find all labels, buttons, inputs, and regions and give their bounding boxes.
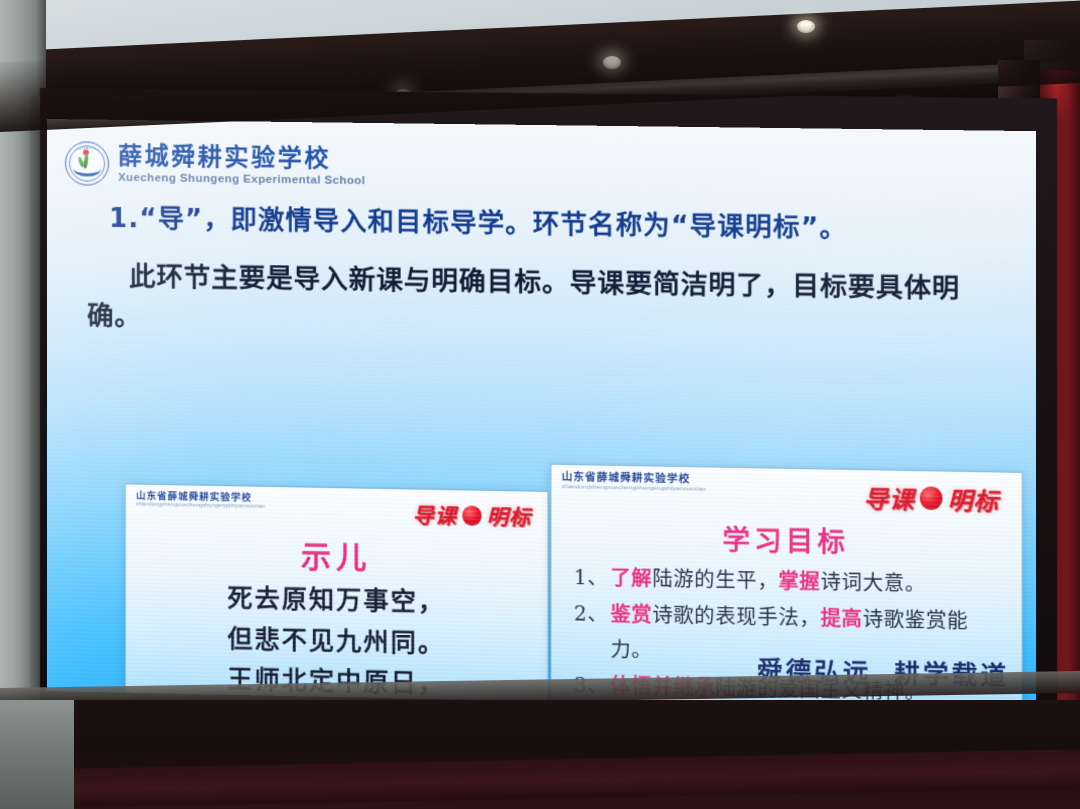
brand-lockup-daoke-mingbiao: 导课 明标	[412, 500, 531, 532]
objective-highlight: 提高	[820, 606, 862, 631]
brand-right-word: 明标	[948, 481, 999, 517]
brand-red-dot-icon	[920, 487, 943, 510]
poem-title: 示儿	[126, 528, 547, 580]
slide-paragraph: 此环节主要是导入新课与明确目标。导课要简洁明了，目标要具体明确。	[87, 257, 1005, 351]
objective-number: 1、	[574, 560, 608, 597]
brand-lockup-daoke-mingbiao: 导课 明标	[863, 479, 999, 517]
objective-highlight: 了解	[610, 566, 652, 591]
brand-red-dot-icon	[462, 506, 482, 526]
school-name-cn: 薛城舜耕实验学校	[118, 144, 365, 172]
school-name-en: Xuecheng Shungeng Experimental School	[118, 171, 365, 186]
objectives-title: 学习目标	[552, 515, 1022, 563]
embedded-slide-poem[interactable]: 山东省薛城舜耕实验学校 shandongshengxuechengshungen…	[125, 483, 548, 711]
led-presentation-screen[interactable]: 薛城舜耕实验学校 Xuecheng Shungeng Experimental …	[47, 119, 1036, 712]
sub-slide-school-header: 山东省薛城舜耕实验学校 shandongshengxuechengshungen…	[562, 472, 706, 492]
slide-body: 1.“导”，即激情导入和目标导学。环节名称为“导课明标”。 此环节主要是导入新课…	[87, 198, 1005, 351]
left-wall-base	[0, 700, 74, 809]
brand-right-word: 明标	[487, 501, 532, 532]
objective-text: 诗词大意。	[820, 570, 926, 596]
brand-left-word: 导课	[863, 479, 914, 515]
objective-number: 2、	[574, 596, 608, 633]
objective-highlight: 掌握	[778, 569, 820, 594]
room-photo: 薛城舜耕实验学校 Xuecheng Shungeng Experimental …	[0, 0, 1080, 809]
brand-left-word: 导课	[412, 500, 456, 531]
sub-school-name-pinyin: shandongshengxuechengshungengshiyanxuexi…	[562, 484, 706, 493]
school-crest-icon	[65, 141, 109, 186]
sub-slide-school-header: 山东省薛城舜耕实验学校 shandongshengxuechengshungen…	[136, 492, 265, 510]
objective-highlight: 鉴赏	[610, 602, 652, 627]
objective-text: 陆游的生平，	[652, 566, 778, 593]
sub-school-name-pinyin: shandongshengxuechengshungengshiyanxuexi…	[136, 502, 265, 510]
objective-text: 诗歌的表现手法，	[652, 602, 820, 630]
school-name-block: 薛城舜耕实验学校 Xuecheng Shungeng Experimental …	[118, 144, 365, 187]
slide-heading-line: 1.“导”，即激情导入和目标导学。环节名称为“导课明标”。	[109, 198, 1005, 248]
slide-school-header: 薛城舜耕实验学校 Xuecheng Shungeng Experimental …	[65, 141, 365, 189]
